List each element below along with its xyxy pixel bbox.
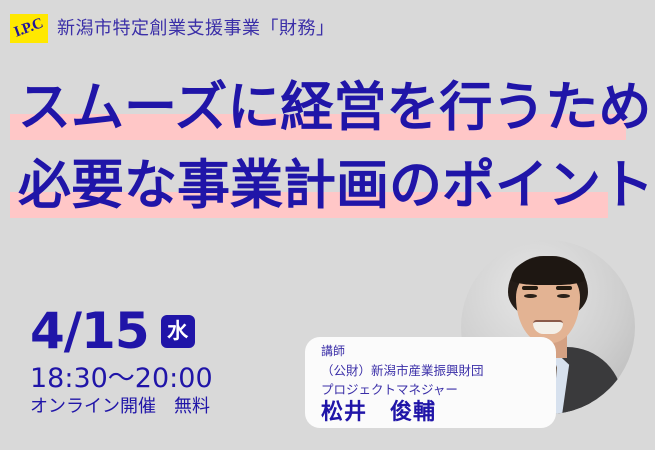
day-of-week-badge: 水 bbox=[161, 315, 195, 348]
portrait-mouth bbox=[533, 320, 563, 334]
date-row: 4/15 水 bbox=[30, 306, 213, 356]
seminar-poster: I.P.C 新潟市特定創業支援事業「財務」 スムーズに経営を行うために 必要な事… bbox=[0, 0, 655, 450]
header: I.P.C 新潟市特定創業支援事業「財務」 bbox=[10, 14, 335, 43]
event-time: 18:30〜20:00 bbox=[30, 365, 213, 393]
portrait-eye-right bbox=[557, 294, 570, 298]
headline-text-2: 必要な事業計画のポイント bbox=[18, 159, 654, 212]
speaker-name: 松井 俊輔 bbox=[321, 401, 556, 425]
speaker-position: プロジェクトマネジャー bbox=[321, 382, 556, 398]
headline-block: スムーズに経営を行うために 必要な事業計画のポイント bbox=[0, 62, 655, 218]
program-title: 新潟市特定創業支援事業「財務」 bbox=[57, 20, 335, 38]
headline-line-1: スムーズに経営を行うために bbox=[0, 62, 655, 140]
headline-text-1: スムーズに経営を行うために bbox=[18, 81, 655, 134]
event-format-fee: オンライン開催 無料 bbox=[30, 398, 213, 416]
speaker-organization: （公財）新潟市産業振興財団 bbox=[321, 363, 556, 379]
portrait-fringe bbox=[511, 257, 585, 285]
speaker-card: 講師 （公財）新潟市産業振興財団 プロジェクトマネジャー 松井 俊輔 bbox=[305, 337, 556, 428]
ipc-logo-icon: I.P.C bbox=[10, 14, 48, 43]
ipc-logo-text: I.P.C bbox=[13, 16, 46, 40]
portrait-eyebrow-left bbox=[522, 286, 538, 290]
speaker-role-label: 講師 bbox=[321, 345, 556, 359]
portrait-eye-left bbox=[524, 294, 537, 298]
event-schedule: 4/15 水 18:30〜20:00 オンライン開催 無料 bbox=[30, 306, 213, 416]
portrait-eyebrow-right bbox=[556, 286, 572, 290]
event-date: 4/15 bbox=[30, 306, 149, 356]
headline-line-2: 必要な事業計画のポイント bbox=[0, 140, 655, 218]
